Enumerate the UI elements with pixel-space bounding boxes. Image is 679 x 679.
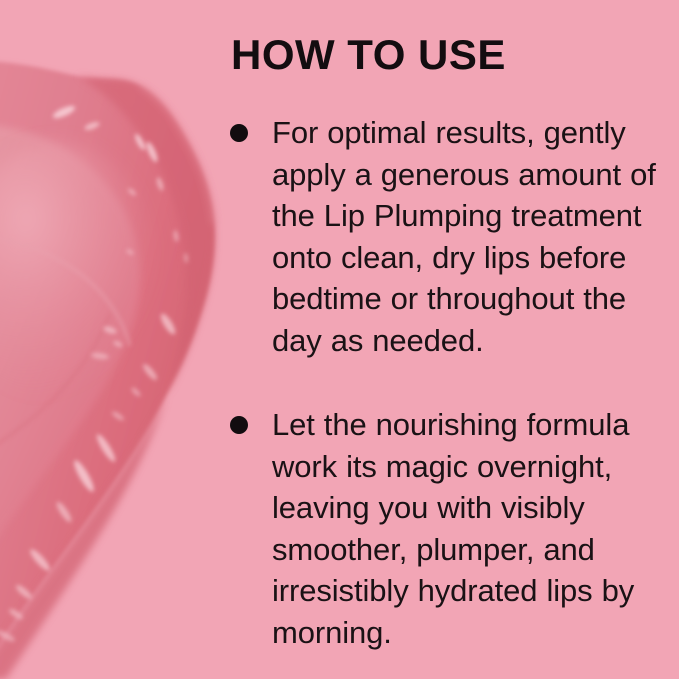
list-item-text: Let the nourishing formula work its magi…	[272, 404, 660, 653]
list-item: Let the nourishing formula work its magi…	[230, 404, 660, 653]
instructions-content: HOW TO USE For optimal results, gently a…	[230, 0, 660, 679]
bullet-dot-icon	[230, 416, 248, 434]
lip-gloss-swatch	[0, 0, 260, 679]
list-item-text: For optimal results, gently apply a gene…	[272, 112, 660, 361]
product-instructions-card: HOW TO USE For optimal results, gently a…	[0, 0, 679, 679]
instructions-list: For optimal results, gently apply a gene…	[230, 112, 660, 653]
bullet-dot-icon	[230, 124, 248, 142]
list-item: For optimal results, gently apply a gene…	[230, 112, 660, 361]
page-title: HOW TO USE	[231, 34, 506, 76]
